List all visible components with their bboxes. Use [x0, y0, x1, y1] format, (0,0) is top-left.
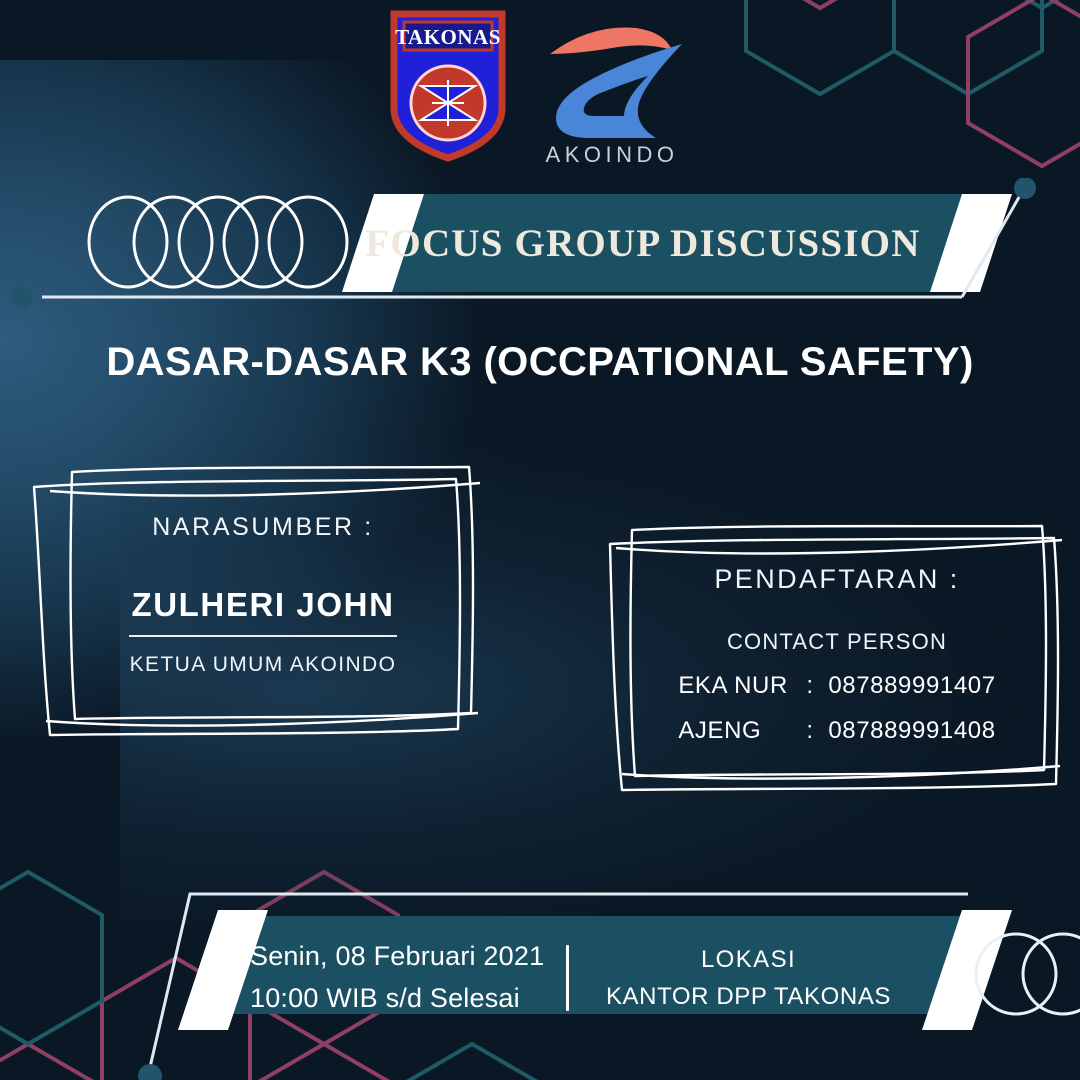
- footer-date-column: Senin, 08 Februari 2021 10:00 WIB s/d Se…: [250, 936, 562, 1020]
- speaker-card: NARASUMBER : ZULHERI JOHN KETUA UMUM AKO…: [28, 445, 498, 745]
- footer-dot-icon: [138, 1064, 162, 1080]
- footer-separator: [566, 945, 569, 1011]
- footer-date: Senin, 08 Februari 2021: [250, 936, 562, 978]
- takonas-wordmark: TAKONAS: [395, 25, 501, 49]
- akoindo-crescent-icon: [550, 28, 672, 54]
- footer-location-value: KANTOR DPP TAKONAS: [587, 978, 910, 1015]
- footer-location-column: LOKASI KANTOR DPP TAKONAS: [587, 941, 910, 1015]
- akoindo-swoosh-icon: [556, 44, 682, 138]
- takonas-logo: TAKONAS: [388, 8, 508, 163]
- contact-name: EKA NUR: [678, 672, 806, 700]
- speaker-name-underline: [129, 635, 397, 637]
- logo-row: TAKONAS AKOINDO: [0, 8, 1080, 173]
- contact-phone[interactable]: 087889991408: [828, 717, 995, 745]
- header-banner: FOCUS GROUP DISCUSSION: [0, 178, 1080, 313]
- registration-subtitle: CONTACT PERSON: [727, 629, 947, 655]
- akoindo-wordmark: AKOINDO: [546, 142, 679, 166]
- speaker-card-content: NARASUMBER : ZULHERI JOHN KETUA UMUM AKO…: [28, 445, 498, 745]
- registration-card-content: PENDAFTARAN : CONTACT PERSON EKA NUR : 0…: [602, 512, 1072, 797]
- contact-row: AJENG : 087889991408: [636, 717, 1038, 745]
- event-title: DASAR-DASAR K3 (OCCPATIONAL SAFETY): [0, 340, 1080, 385]
- contact-name: AJENG: [678, 717, 806, 745]
- banner-dot-right-icon: [1014, 178, 1036, 199]
- akoindo-logo: AKOINDO: [532, 16, 692, 166]
- contact-colon: :: [806, 717, 828, 745]
- poster-canvas: TAKONAS AKOINDO: [0, 0, 1080, 1080]
- speaker-label: NARASUMBER :: [152, 513, 374, 542]
- banner-rings-icon: [89, 197, 347, 287]
- speaker-name: ZULHERI JOHN: [131, 586, 394, 624]
- contact-phone[interactable]: 087889991407: [828, 672, 995, 700]
- footer-time: 10:00 WIB s/d Selesai: [250, 978, 562, 1020]
- footer-location-label: LOKASI: [587, 941, 910, 978]
- registration-card: PENDAFTARAN : CONTACT PERSON EKA NUR : 0…: [602, 512, 1072, 797]
- registration-label: PENDAFTARAN :: [714, 564, 959, 595]
- banner-title: FOCUS GROUP DISCUSSION: [365, 222, 920, 265]
- footer-text-group: Senin, 08 Februari 2021 10:00 WIB s/d Se…: [250, 930, 910, 1026]
- contact-colon: :: [806, 672, 828, 700]
- speaker-role: KETUA UMUM AKOINDO: [130, 653, 397, 677]
- banner-dot-left-icon: [11, 286, 33, 308]
- contact-row: EKA NUR : 087889991407: [636, 672, 1038, 700]
